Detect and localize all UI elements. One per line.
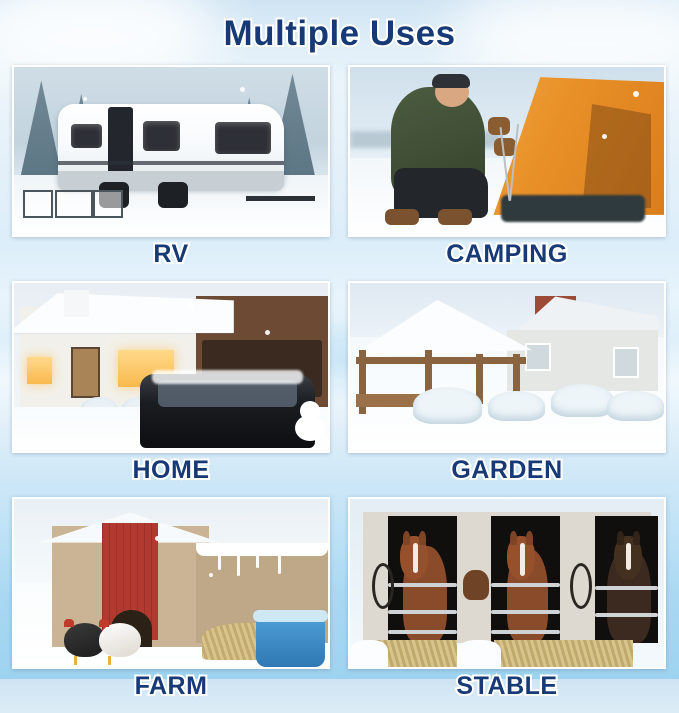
uses-row-2: HOME [12, 281, 667, 487]
uses-grid: RV [12, 65, 667, 713]
hay-strewn [494, 640, 632, 667]
snowman-head [300, 401, 320, 421]
snow-fleck [187, 303, 194, 310]
snow-on-barn [196, 543, 328, 556]
boot-icon [385, 209, 419, 225]
snow-fleck [633, 91, 639, 97]
horse-ear [526, 531, 533, 545]
use-image-garden[interactable] [348, 281, 666, 453]
stall-rail [491, 630, 560, 634]
horse-ear [510, 531, 517, 545]
use-image-camping[interactable] [348, 65, 666, 237]
stall-rail [491, 583, 560, 587]
snow-bush [607, 391, 664, 421]
icicle-icon [256, 556, 259, 568]
chimney-icon [64, 290, 89, 317]
bridle-icon [570, 563, 592, 609]
horse-ear [419, 531, 426, 545]
uses-row-3: FARM [12, 497, 667, 703]
house-window [525, 343, 551, 371]
use-label-stable: STABLE [348, 669, 666, 703]
use-label-camping: CAMPING [348, 237, 666, 271]
front-door [71, 347, 100, 398]
icicle-icon [278, 556, 281, 574]
rv-window [215, 122, 272, 154]
tent-footprint [501, 195, 645, 222]
use-cell-garden[interactable]: GARDEN [348, 281, 666, 487]
bucket-ice-rim [253, 610, 328, 622]
use-image-rv[interactable] [12, 65, 330, 237]
camp-table-icon [55, 190, 93, 218]
use-label-garden: GARDEN [348, 453, 666, 487]
rv-hitch [246, 196, 315, 201]
water-bucket-icon [256, 617, 325, 667]
use-cell-stable[interactable]: STABLE [348, 497, 666, 703]
rv-stripe [58, 161, 284, 165]
snow-pile [457, 640, 501, 667]
use-label-home: HOME [12, 453, 330, 487]
car-window [158, 380, 296, 407]
chicken-leg [108, 656, 111, 665]
use-image-home[interactable] [12, 281, 330, 453]
stall-rail [595, 586, 658, 590]
rv-window [71, 124, 102, 148]
boot-icon [438, 209, 472, 225]
horse-blaze [626, 543, 631, 570]
snow-bush [413, 387, 482, 424]
icicle-icon [218, 556, 221, 570]
saddle-icon [463, 570, 489, 600]
tent-door-shadow [582, 104, 651, 208]
snow-fleck [209, 573, 213, 577]
poster-root: Multiple Uses [0, 0, 679, 679]
page-title: Multiple Uses [0, 14, 679, 54]
bridle-icon [372, 563, 394, 609]
use-label-rv: RV [12, 237, 330, 271]
camp-chair-icon [93, 190, 123, 218]
use-cell-farm[interactable]: FARM [12, 497, 330, 703]
use-cell-camping[interactable]: CAMPING [348, 65, 666, 271]
snowman-icon [295, 395, 325, 441]
horse-ear [403, 531, 410, 545]
icicle-icon [237, 556, 240, 576]
horse-blaze [413, 543, 418, 573]
rv-window [143, 121, 181, 151]
horse-ear [617, 531, 624, 545]
use-image-stable[interactable] [348, 497, 666, 669]
snow-bush [551, 384, 614, 418]
beanie-icon [432, 74, 470, 88]
chicken-comb [99, 619, 109, 627]
stall-rail [388, 630, 457, 634]
stall-rail [388, 583, 457, 587]
stall-rail [491, 610, 560, 614]
snow-on-car [152, 370, 303, 383]
lit-window [27, 357, 52, 384]
use-image-farm[interactable] [12, 497, 330, 669]
gazebo-rail [356, 357, 526, 364]
stall-rail [595, 613, 658, 617]
stall-rail [388, 610, 457, 614]
horse-ear [633, 531, 640, 545]
horse-blaze [520, 543, 525, 577]
use-cell-rv[interactable]: RV [12, 65, 330, 271]
use-label-farm: FARM [12, 669, 330, 703]
camp-chair-icon [23, 190, 53, 218]
chicken-comb [64, 619, 74, 627]
chicken-leg [74, 656, 77, 665]
snow-bush [488, 391, 545, 421]
snow-pile [350, 640, 388, 667]
uses-row-1: RV [12, 65, 667, 271]
house-window [613, 347, 639, 378]
use-cell-home[interactable]: HOME [12, 281, 330, 487]
rv-wheel [158, 182, 188, 208]
chicken-icon [99, 623, 141, 657]
